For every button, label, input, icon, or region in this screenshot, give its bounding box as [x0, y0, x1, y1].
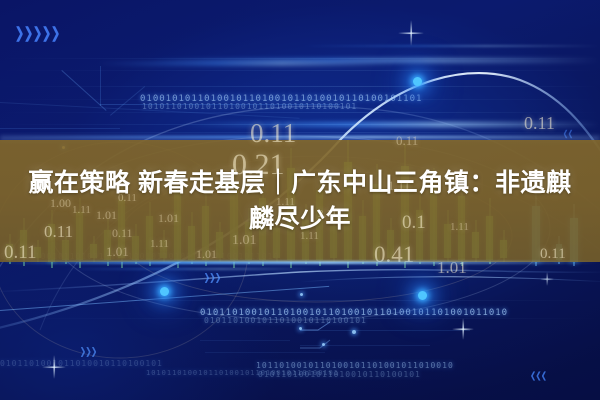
- headline-line-1: 赢在策略 新春走基层｜广东中山三角镇：非遗麒: [29, 167, 572, 200]
- headline-line-2: 麟尽少年: [249, 203, 351, 236]
- news-banner: 0100101011010010110100101101001011010010…: [0, 0, 600, 400]
- price-label: 0.11: [524, 113, 555, 134]
- headline: 赢在策略 新春走基层｜广东中山三角镇：非遗麒 麟尽少年: [0, 140, 600, 262]
